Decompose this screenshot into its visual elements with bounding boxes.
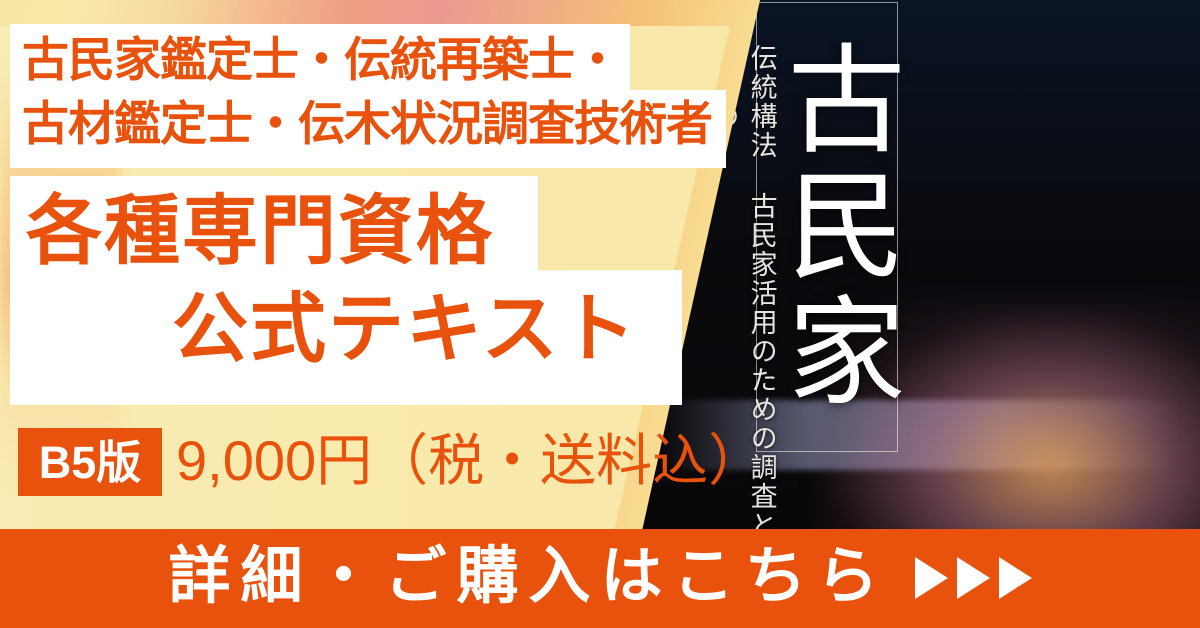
- format-badge-label: B5版: [18, 428, 162, 496]
- headline-line-2: 古材鑑定士・伝木状況調査技術者: [22, 100, 712, 147]
- triangle-right-icon: [957, 557, 990, 599]
- cta-label: 詳細・ご購入はこちら: [168, 546, 888, 608]
- title-line-1: 各種専門資格: [26, 194, 494, 270]
- cta-bar[interactable]: 詳細・ご購入はこちら: [0, 529, 1200, 628]
- triangle-right-icon: [999, 557, 1032, 599]
- cta-arrows: [915, 557, 1032, 599]
- price-label: 9,000円（税・送料込）: [176, 430, 764, 492]
- triangle-right-icon: [915, 557, 948, 599]
- headline-line-1: 古民家鑑定士・伝統再築士・: [22, 36, 620, 83]
- promo-banner: 古民家 伝統構法 古民家活用のための調査と再生の 古民家鑑定士・伝統再築士・ 古…: [0, 0, 1200, 628]
- format-badge: B5版: [18, 428, 162, 496]
- title-line-2: 公式テキスト: [172, 292, 638, 368]
